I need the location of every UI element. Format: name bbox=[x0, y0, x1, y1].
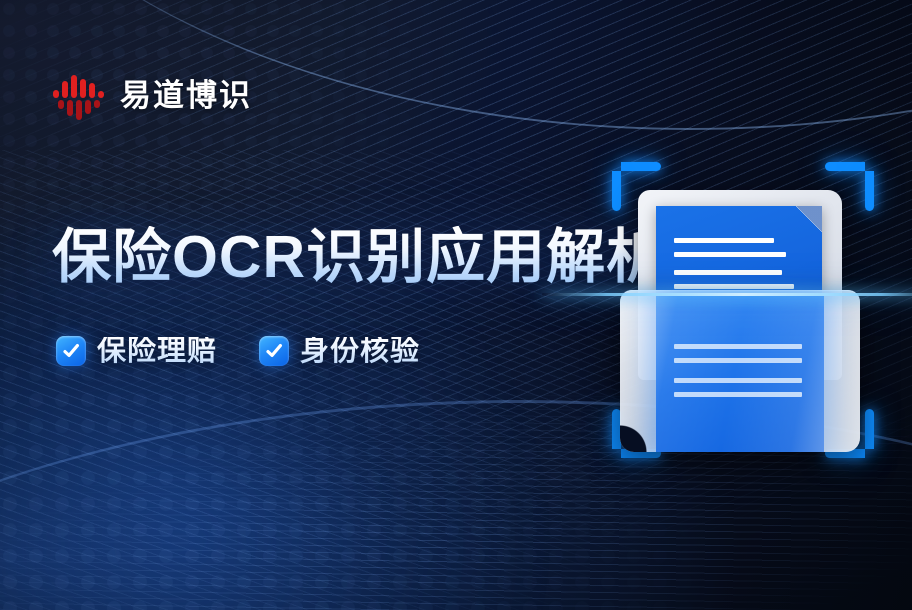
page-text-line bbox=[674, 270, 782, 275]
folder-icon bbox=[620, 290, 860, 452]
banner: 易道博识 保险OCR识别应用解析 保险理赔 身份核验 bbox=[0, 0, 912, 610]
tag-label: 保险理赔 bbox=[97, 337, 217, 366]
page-fold-corner bbox=[796, 206, 822, 232]
folder-inner-panel bbox=[656, 296, 824, 452]
document-scan-illustration bbox=[612, 162, 874, 458]
check-square-icon bbox=[56, 336, 86, 366]
page-text-line bbox=[674, 252, 786, 257]
sound-wave-dots-logo-icon bbox=[52, 68, 106, 122]
panel-text-line bbox=[674, 378, 802, 383]
tag-item-claims: 保险理赔 bbox=[56, 336, 217, 366]
check-square-icon bbox=[259, 336, 289, 366]
panel-text-line bbox=[674, 344, 802, 349]
folder-notch bbox=[620, 418, 654, 452]
panel-text-line bbox=[674, 392, 802, 397]
tag-list: 保险理赔 身份核验 bbox=[56, 336, 420, 366]
panel-text-line bbox=[674, 358, 802, 363]
page-text-line bbox=[674, 238, 774, 243]
tag-item-identity: 身份核验 bbox=[259, 336, 420, 366]
brand-name: 易道博识 bbox=[120, 80, 252, 111]
tag-label: 身份核验 bbox=[300, 337, 420, 366]
brand-logo: 易道博识 bbox=[52, 68, 252, 122]
scan-beam bbox=[542, 293, 912, 296]
